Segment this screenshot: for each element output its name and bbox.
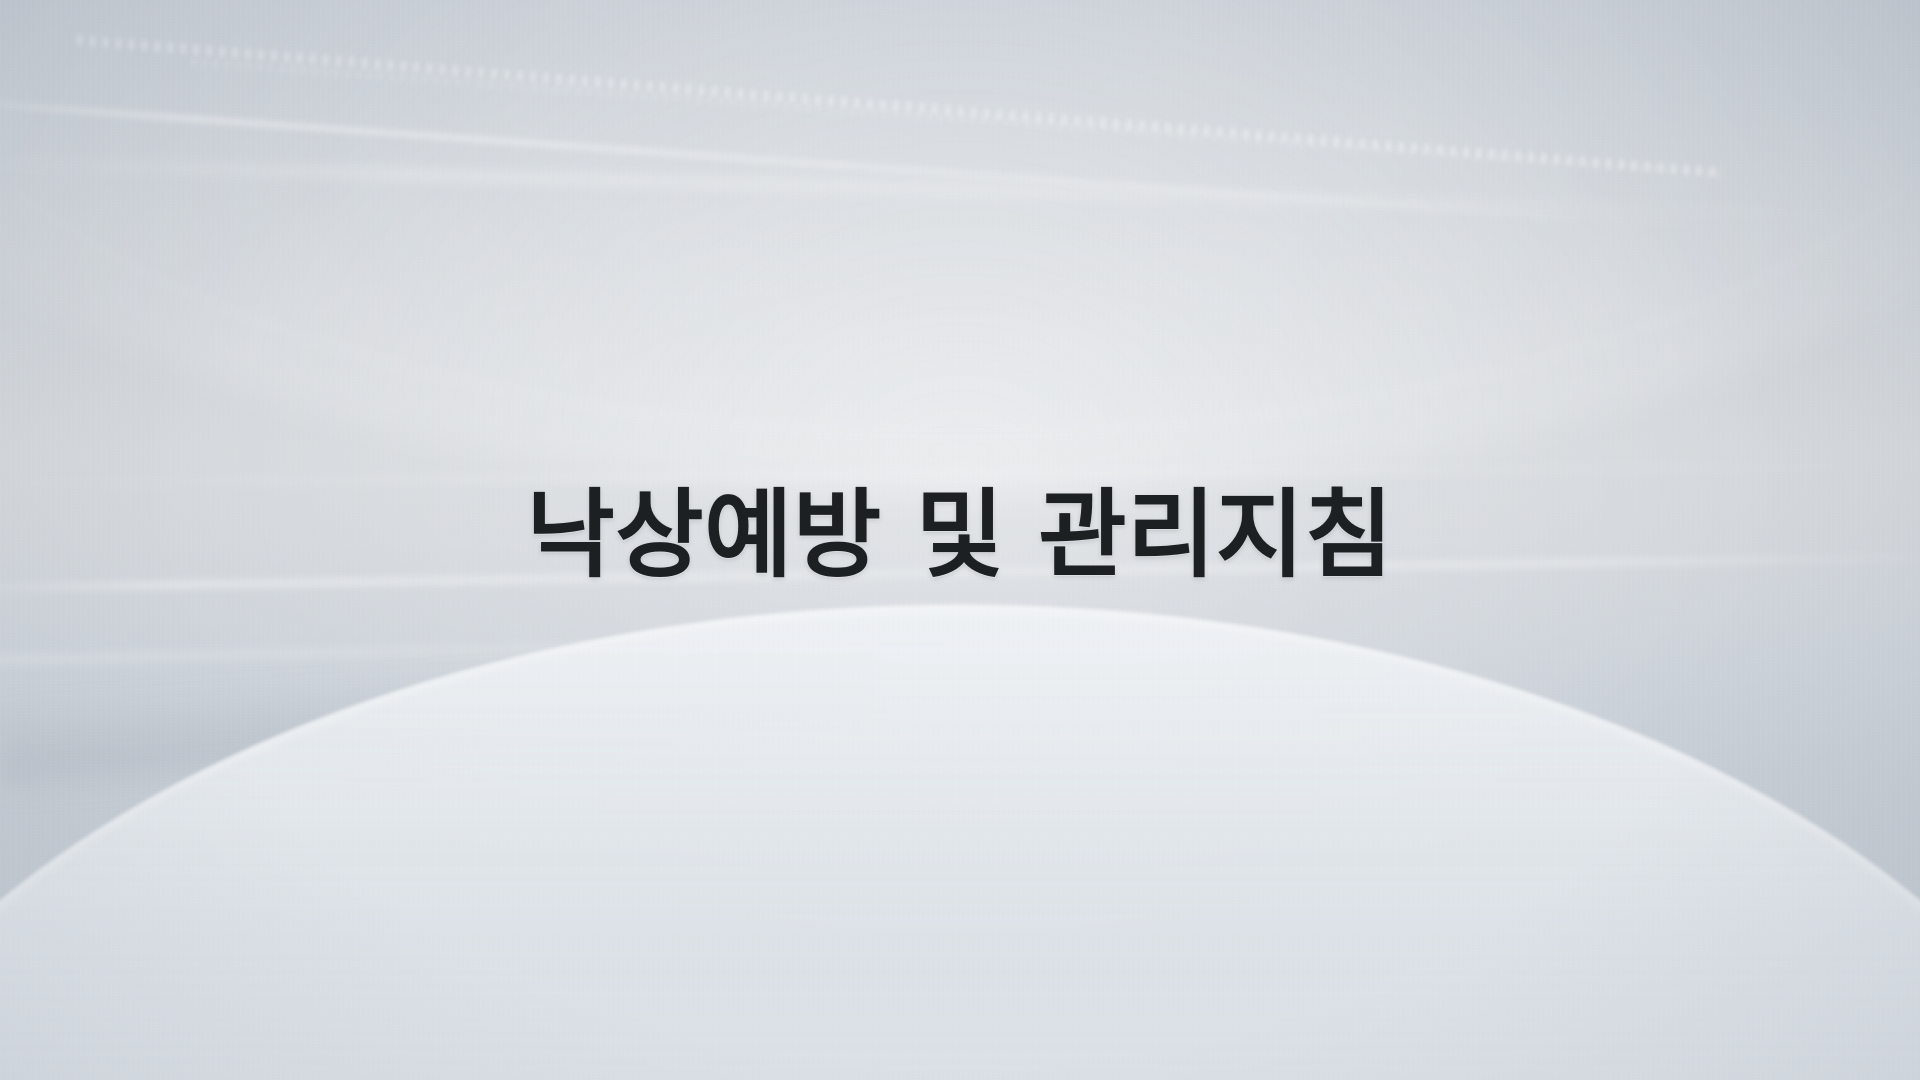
title-container: 낙상예방 및 관리지침 bbox=[0, 0, 1920, 1080]
title-card: 낙상예방 및 관리지침 bbox=[0, 0, 1920, 1080]
page-title: 낙상예방 및 관리지침 bbox=[526, 483, 1393, 597]
